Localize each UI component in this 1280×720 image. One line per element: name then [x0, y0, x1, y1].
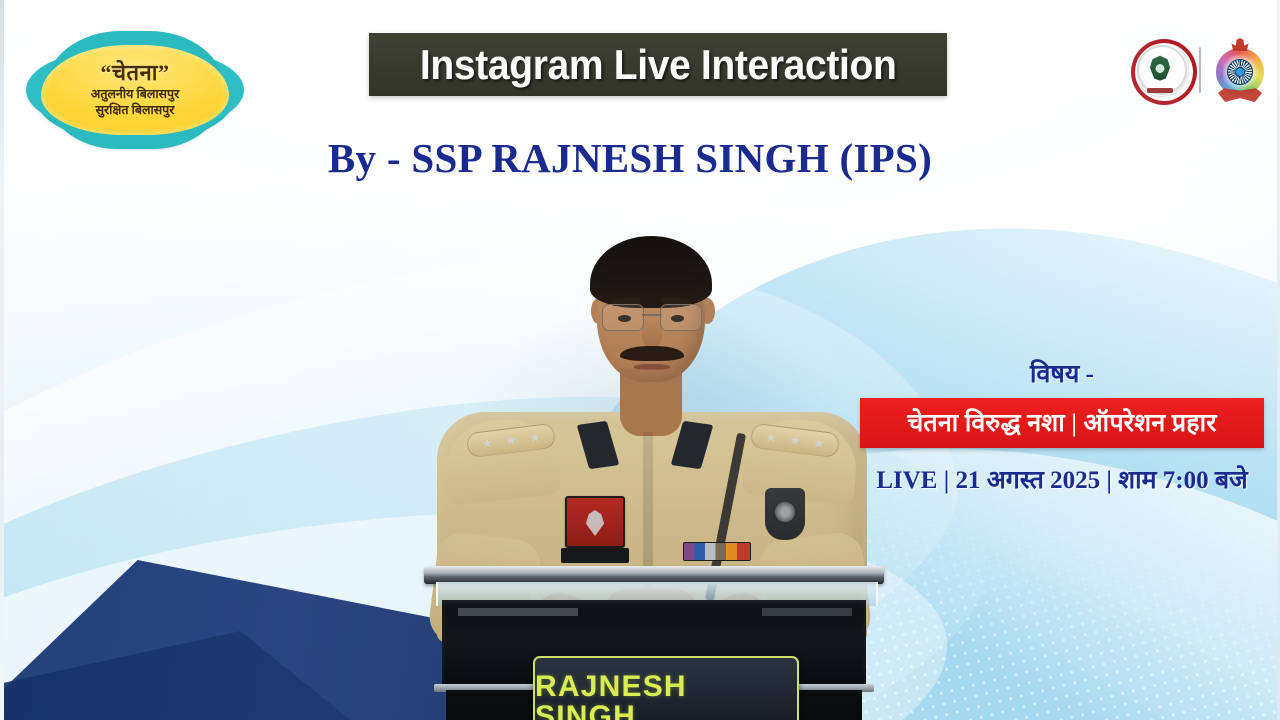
nose: [642, 320, 662, 348]
broadcast-frame: “चेतना” अतुलनीय बिलासपुर सुरक्षित बिलासप…: [0, 0, 1280, 720]
police-emblems: [1130, 38, 1270, 102]
rank-star-icon: [505, 435, 516, 446]
chin: [620, 369, 682, 387]
topic-bar: चेतना विरुद्ध नशा | ऑपरेशन प्रहार: [860, 398, 1264, 448]
rank-star-icon: [766, 432, 777, 443]
bilaspur-police-emblem-icon: [1130, 38, 1190, 102]
desk-nameplate: RAJNESH SINGH IPS: [533, 656, 799, 720]
nameplate-name: RAJNESH SINGH: [535, 672, 797, 720]
eyeglass-lens-right: [660, 304, 702, 331]
schedule-text: LIVE | 21 अगस्त 2025 | शाम 7:00 बजे: [860, 462, 1264, 496]
emblem-divider: [1199, 47, 1201, 93]
uniform-medal-ribbons: [683, 542, 751, 561]
uniform-shoulder-patch: [765, 488, 805, 540]
rank-star-icon: [529, 432, 540, 443]
emblem-scroll: [1147, 88, 1173, 93]
ashoka-chakra-icon: [1227, 59, 1253, 85]
chetana-logo-line1: अतुलनीय बिलासपुर: [91, 87, 179, 102]
uniform-insignia-badge: [565, 496, 625, 548]
emblem-crown: [1232, 38, 1249, 51]
event-info-block: विषय - चेतना विरुद्ध नशा | ऑपरेशन प्रहार…: [860, 356, 1264, 496]
rank-star-icon: [482, 438, 493, 449]
studio-desk: RAJNESH SINGH IPS: [420, 566, 888, 720]
eyeglass-lens-left: [602, 304, 644, 331]
subtitle-text: By - SSP RAJNESH SINGH (IPS): [0, 134, 1270, 182]
mustache: [620, 346, 684, 361]
uniform-name-tag: [561, 548, 629, 563]
chetana-logo-badge: “चेतना” अतुलनीय बिलासपुर सुरक्षित बिलासप…: [41, 45, 229, 135]
title-banner: Instagram Live Interaction: [369, 33, 947, 96]
chetana-logo-title: “चेतना”: [101, 62, 170, 84]
title-text: Instagram Live Interaction: [420, 41, 897, 89]
frame-left-edge: [0, 0, 4, 720]
chetana-logo: “चेतना” अतुलनीय बिलासपुर सुरक्षित बिलासप…: [35, 38, 235, 142]
chhattisgarh-police-emblem-icon: [1210, 38, 1270, 102]
chetana-logo-line2: सुरक्षित बिलासपुर: [96, 103, 175, 118]
topic-text: चेतना विरुद्ध नशा | ऑपरेशन प्रहार: [870, 405, 1254, 439]
topic-label: विषय -: [860, 356, 1264, 390]
rank-star-icon: [813, 438, 824, 449]
eyeglass-bridge: [642, 314, 662, 316]
rank-star-icon: [789, 435, 800, 446]
